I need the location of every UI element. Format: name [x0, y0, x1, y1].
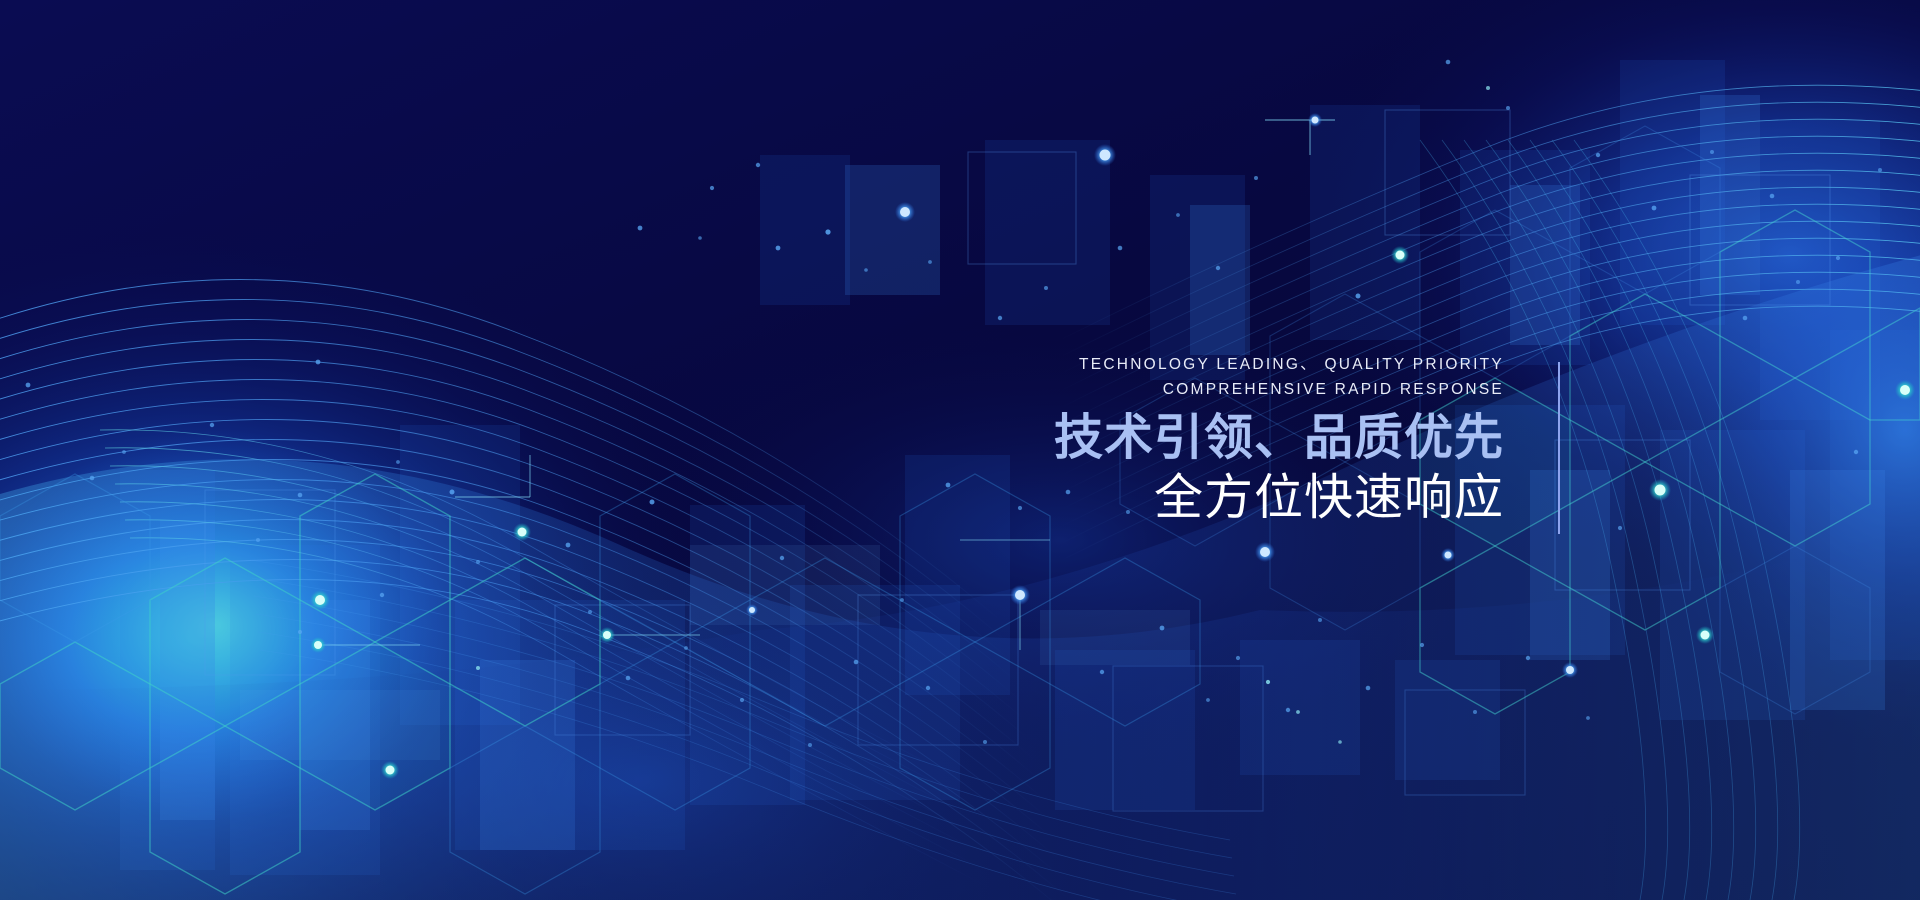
headline-line-1: 技术引领、品质优先 [980, 408, 1504, 468]
rectangle-shapes-layer [0, 0, 1920, 900]
ribbon-wave-layer [0, 0, 1920, 900]
circuit-nodes-layer [0, 0, 1920, 900]
background-glow-layer [0, 0, 1920, 900]
headline-line-2: 全方位快速响应 [980, 468, 1504, 528]
technology-banner: TECHNOLOGY LEADING、 QUALITY PRIORITY COM… [0, 0, 1920, 900]
scattered-dots-layer [0, 0, 1920, 900]
vertical-divider-line [1558, 362, 1560, 534]
hexagon-lattice-layer [0, 0, 1920, 900]
headline-text-block: TECHNOLOGY LEADING、 QUALITY PRIORITY COM… [980, 352, 1504, 528]
eyebrow-line-2: COMPREHENSIVE RAPID RESPONSE [980, 377, 1504, 402]
wave-lines-layer [0, 0, 1920, 900]
eyebrow-line-1: TECHNOLOGY LEADING、 QUALITY PRIORITY [980, 352, 1504, 377]
